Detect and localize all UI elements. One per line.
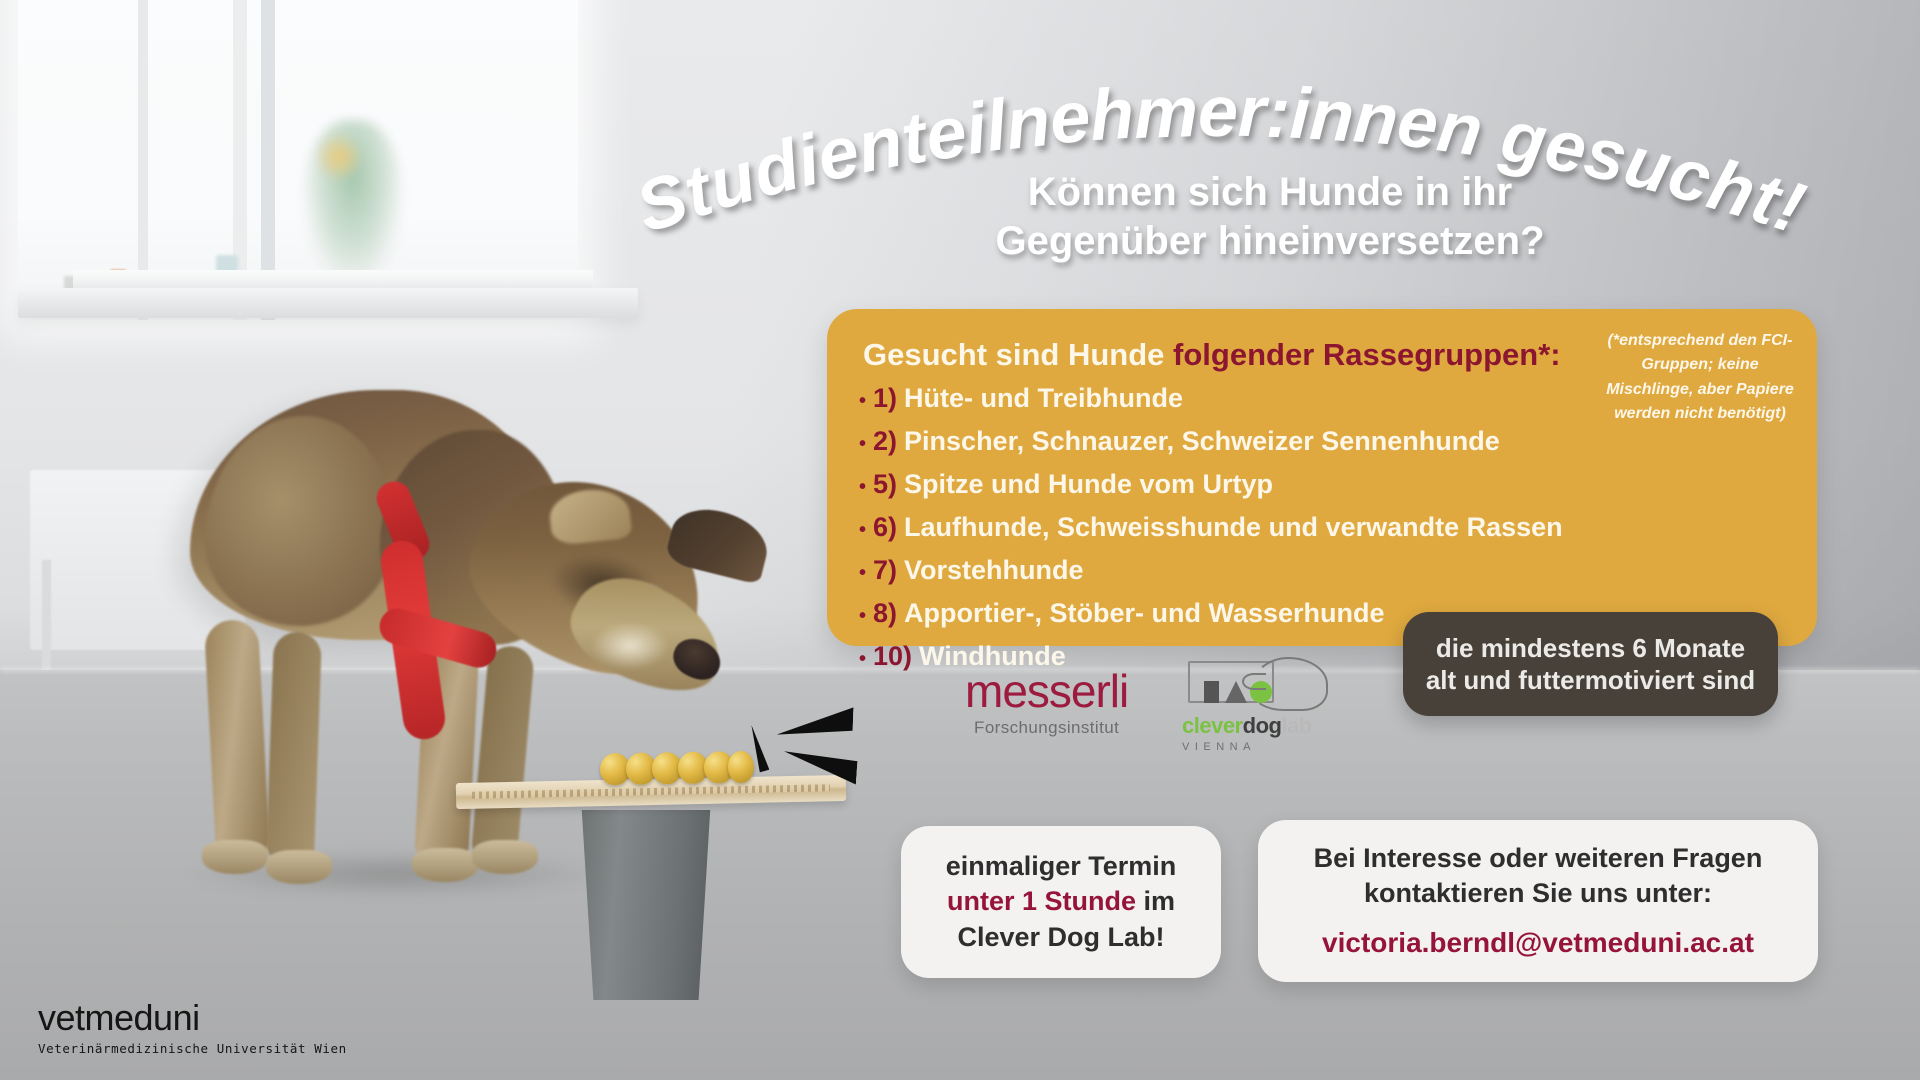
breed-group-number: 8)	[873, 600, 897, 627]
breed-group-item: •7)Vorstehhunde	[859, 557, 1563, 584]
vetmeduni-logo: vetmeduni Veterinärmedizinische Universi…	[38, 1000, 347, 1056]
title-char: l	[981, 89, 1009, 163]
title-char: r	[1237, 76, 1265, 148]
bullet-icon: •	[859, 606, 866, 626]
breed-heading-plain: Gesucht sind Hunde	[863, 337, 1173, 372]
footnote-part-2: benötigt)	[1713, 405, 1786, 422]
title-char: e	[1047, 81, 1092, 156]
appointment-line-1: einmaliger Termin	[946, 851, 1177, 881]
appointment-line-3: Clever Dog Lab!	[957, 922, 1164, 952]
title-char	[1477, 96, 1507, 170]
contact-line-2: kontaktieren Sie uns unter:	[1364, 878, 1712, 908]
title-char: u	[701, 141, 762, 222]
cdl-lab-text: lab	[1281, 713, 1311, 738]
vetmeduni-wordmark: vetmeduni	[38, 1000, 347, 1036]
title-char: n	[1433, 90, 1485, 167]
title-char: t	[676, 154, 719, 230]
title-char: e	[921, 95, 971, 172]
title-char: t	[1744, 162, 1787, 238]
title-char: d	[746, 129, 805, 209]
title-char: c	[1661, 136, 1717, 216]
bullet-icon: •	[859, 434, 866, 454]
title-char: h	[1701, 148, 1762, 229]
breed-group-number: 1)	[873, 385, 897, 412]
title-char: n	[1002, 84, 1053, 160]
breed-group-number: 7)	[873, 557, 897, 584]
contact-email[interactable]: victoria.berndl@vetmeduni.ac.at	[1314, 925, 1763, 961]
cdl-dog-text: dog	[1243, 713, 1282, 738]
footnote-bold: nicht	[1675, 405, 1713, 422]
messerli-logo: messerli Forschungsinstitut	[965, 668, 1128, 738]
requirement-pill: die mindestens 6 Monate alt und futtermo…	[1403, 612, 1778, 716]
title-char: m	[1133, 76, 1198, 150]
appointment-line-2-tail: im	[1136, 886, 1175, 916]
title-char: S	[628, 162, 695, 245]
breed-group-item: •6)Laufhunde, Schweisshunde und verwandt…	[859, 514, 1563, 541]
square-shape-icon	[1204, 681, 1219, 703]
bullet-icon: •	[859, 649, 866, 669]
subtitle-line-1: Können sich Hunde in ihr	[900, 168, 1640, 217]
breed-group-item: •5)Spitze und Hunde vom Urtyp	[859, 471, 1563, 498]
breed-footnote: (*entsprechend den FCI-Gruppen; keine Mi…	[1605, 329, 1795, 426]
breed-group-item: •2)Pinscher, Schnauzer, Schweizer Sennen…	[859, 428, 1563, 455]
cdl-clever-text: clever	[1182, 713, 1243, 738]
title-char: e	[1198, 76, 1237, 148]
breed-group-label: Spitze und Hunde vom Urtyp	[904, 471, 1273, 498]
clever-dog-lab-wordmark: cleverdoglab	[1182, 715, 1332, 737]
title-char: t	[896, 102, 931, 177]
subtitle-line-2: Gegenüber hineinversetzen?	[900, 217, 1640, 266]
bullet-icon: •	[859, 477, 866, 497]
page-subtitle: Können sich Hunde in ihr Gegenüber hinei…	[900, 168, 1640, 266]
title-char: e	[1394, 85, 1441, 161]
cdl-city-text: VIENNA	[1182, 741, 1332, 753]
bullet-icon: •	[859, 563, 866, 583]
title-char: i	[790, 124, 825, 198]
title-char: :	[1265, 77, 1290, 150]
bullet-icon: •	[859, 520, 866, 540]
breed-heading-accent: folgender Rassegruppen*:	[1173, 337, 1561, 372]
title-char: n	[1308, 78, 1355, 153]
content-layer: Studienteilnehmer:innen gesucht! Können …	[0, 0, 1920, 1080]
title-char: n	[851, 106, 907, 185]
title-char: i	[961, 92, 990, 166]
title-char: h	[1088, 78, 1135, 153]
requirement-line-2: alt und futtermotiviert sind	[1426, 665, 1755, 695]
breed-group-number: 5)	[873, 471, 897, 498]
breed-group-label: Pinscher, Schnauzer, Schweizer Sennenhun…	[904, 428, 1500, 455]
contact-line-1: Bei Interesse oder weiteren Fragen	[1314, 843, 1763, 873]
clever-dog-lab-icon	[1182, 655, 1332, 713]
breed-groups-card: Gesucht sind Hunde folgender Rassegruppe…	[827, 309, 1817, 646]
dog-head-outline-icon	[1252, 657, 1328, 711]
vetmeduni-subtitle: Veterinärmedizinische Universität Wien	[38, 1041, 347, 1056]
title-char: i	[1288, 77, 1310, 150]
breed-group-label: Hüte- und Treibhunde	[904, 385, 1183, 412]
messerli-subtitle: Forschungsinstitut	[965, 718, 1128, 738]
title-char: n	[1351, 81, 1400, 157]
title-char: e	[811, 115, 865, 194]
appointment-card: einmaliger Termin unter 1 Stunde im Clev…	[901, 826, 1221, 978]
breed-group-number: 6)	[873, 514, 897, 541]
title-char: !	[1768, 170, 1812, 246]
messerli-wordmark: messerli	[965, 668, 1128, 714]
bullet-icon: •	[859, 391, 866, 411]
requirement-line-1: die mindestens 6 Monate	[1436, 633, 1745, 663]
appointment-accent: unter 1 Stunde	[947, 886, 1136, 916]
title-char: g	[1496, 99, 1551, 177]
contact-card[interactable]: Bei Interesse oder weiteren Fragen konta…	[1258, 820, 1818, 982]
breed-group-label: Laufhunde, Schweisshunde und verwandte R…	[904, 514, 1563, 541]
breed-group-label: Apportier-, Stöber- und Wasserhunde	[904, 600, 1385, 627]
breed-group-number: 2)	[873, 428, 897, 455]
poster-canvas: Studienteilnehmer:innen gesucht! Können …	[0, 0, 1920, 1080]
breed-group-number: 10)	[873, 643, 912, 670]
breed-group-label: Vorstehhunde	[904, 557, 1084, 584]
breed-group-item: •1)Hüte- und Treibhunde	[859, 385, 1563, 412]
clever-dog-lab-logo: cleverdoglab VIENNA	[1182, 655, 1332, 753]
breed-groups-heading: Gesucht sind Hunde folgender Rassegruppe…	[863, 337, 1561, 373]
